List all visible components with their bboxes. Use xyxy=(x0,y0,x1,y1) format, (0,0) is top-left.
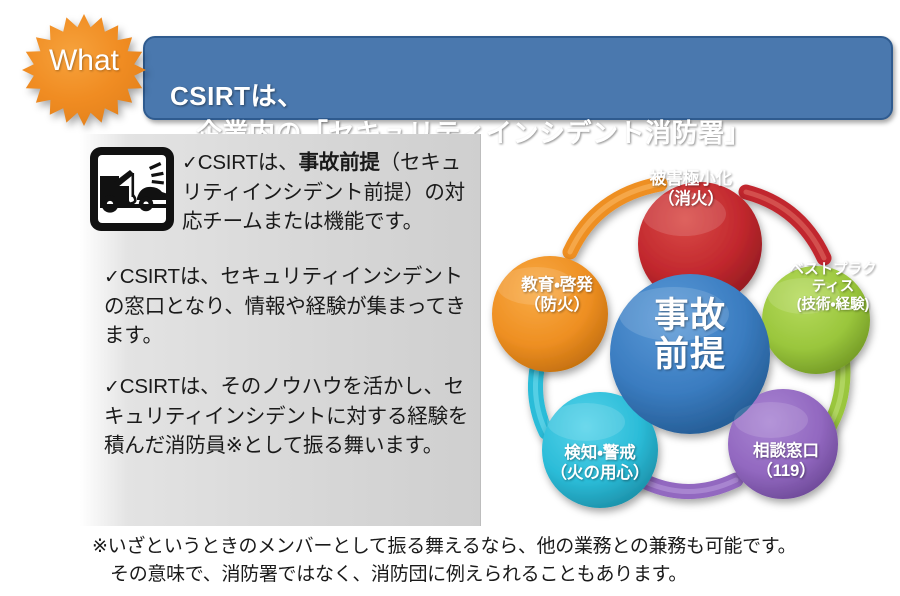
bullet-3-text: CSIRTは、そのノウハウを活かし、セキュリティインシデントに対する経験を積んだ… xyxy=(104,375,468,457)
footer-line-1: ※いざというときのメンバーとして振る舞えるなら、他の業務との兼務も可能です。 xyxy=(92,536,796,557)
footer-line-2: その意味で、消防署ではなく、消防団に例えられることもあります。 xyxy=(92,561,882,589)
bullet-item-1: ✓CSIRTは、事故前提（セキュリティインシデント前提）の対応チームまたは機能で… xyxy=(182,148,474,236)
bullet-1-emphasis: 事故前提 xyxy=(298,151,379,174)
check-icon: ✓ xyxy=(182,153,198,174)
bullet-item-3: ✓CSIRTは、そのノウハウを活かし、セキュリティインシデントに対する経験を積ん… xyxy=(104,372,479,460)
bullet-item-2: ✓CSIRTは、セキュリティインシデントの窓口となり、情報や経験が集まってきます… xyxy=(104,262,479,350)
bullet-2-text: CSIRTは、セキュリティインシデントの窓口となり、情報や経験が集まってきます。 xyxy=(104,265,466,347)
bullet-1-text-before: CSIRTは、 xyxy=(198,151,299,174)
footer-note: ※いざというときのメンバーとして振る舞えるなら、他の業務との兼務も可能です。 そ… xyxy=(92,533,882,588)
tow-truck-icon xyxy=(89,146,175,232)
check-icon: ✓ xyxy=(104,377,120,398)
header-title-line1: CSIRTは、 xyxy=(170,81,304,111)
slide-canvas: CSIRTは、 企業内の「セキュリティインシデント消防署」 What xyxy=(0,0,900,596)
check-icon: ✓ xyxy=(104,267,120,288)
cycle-diagram xyxy=(478,132,896,524)
starburst-badge-icon xyxy=(22,14,146,126)
